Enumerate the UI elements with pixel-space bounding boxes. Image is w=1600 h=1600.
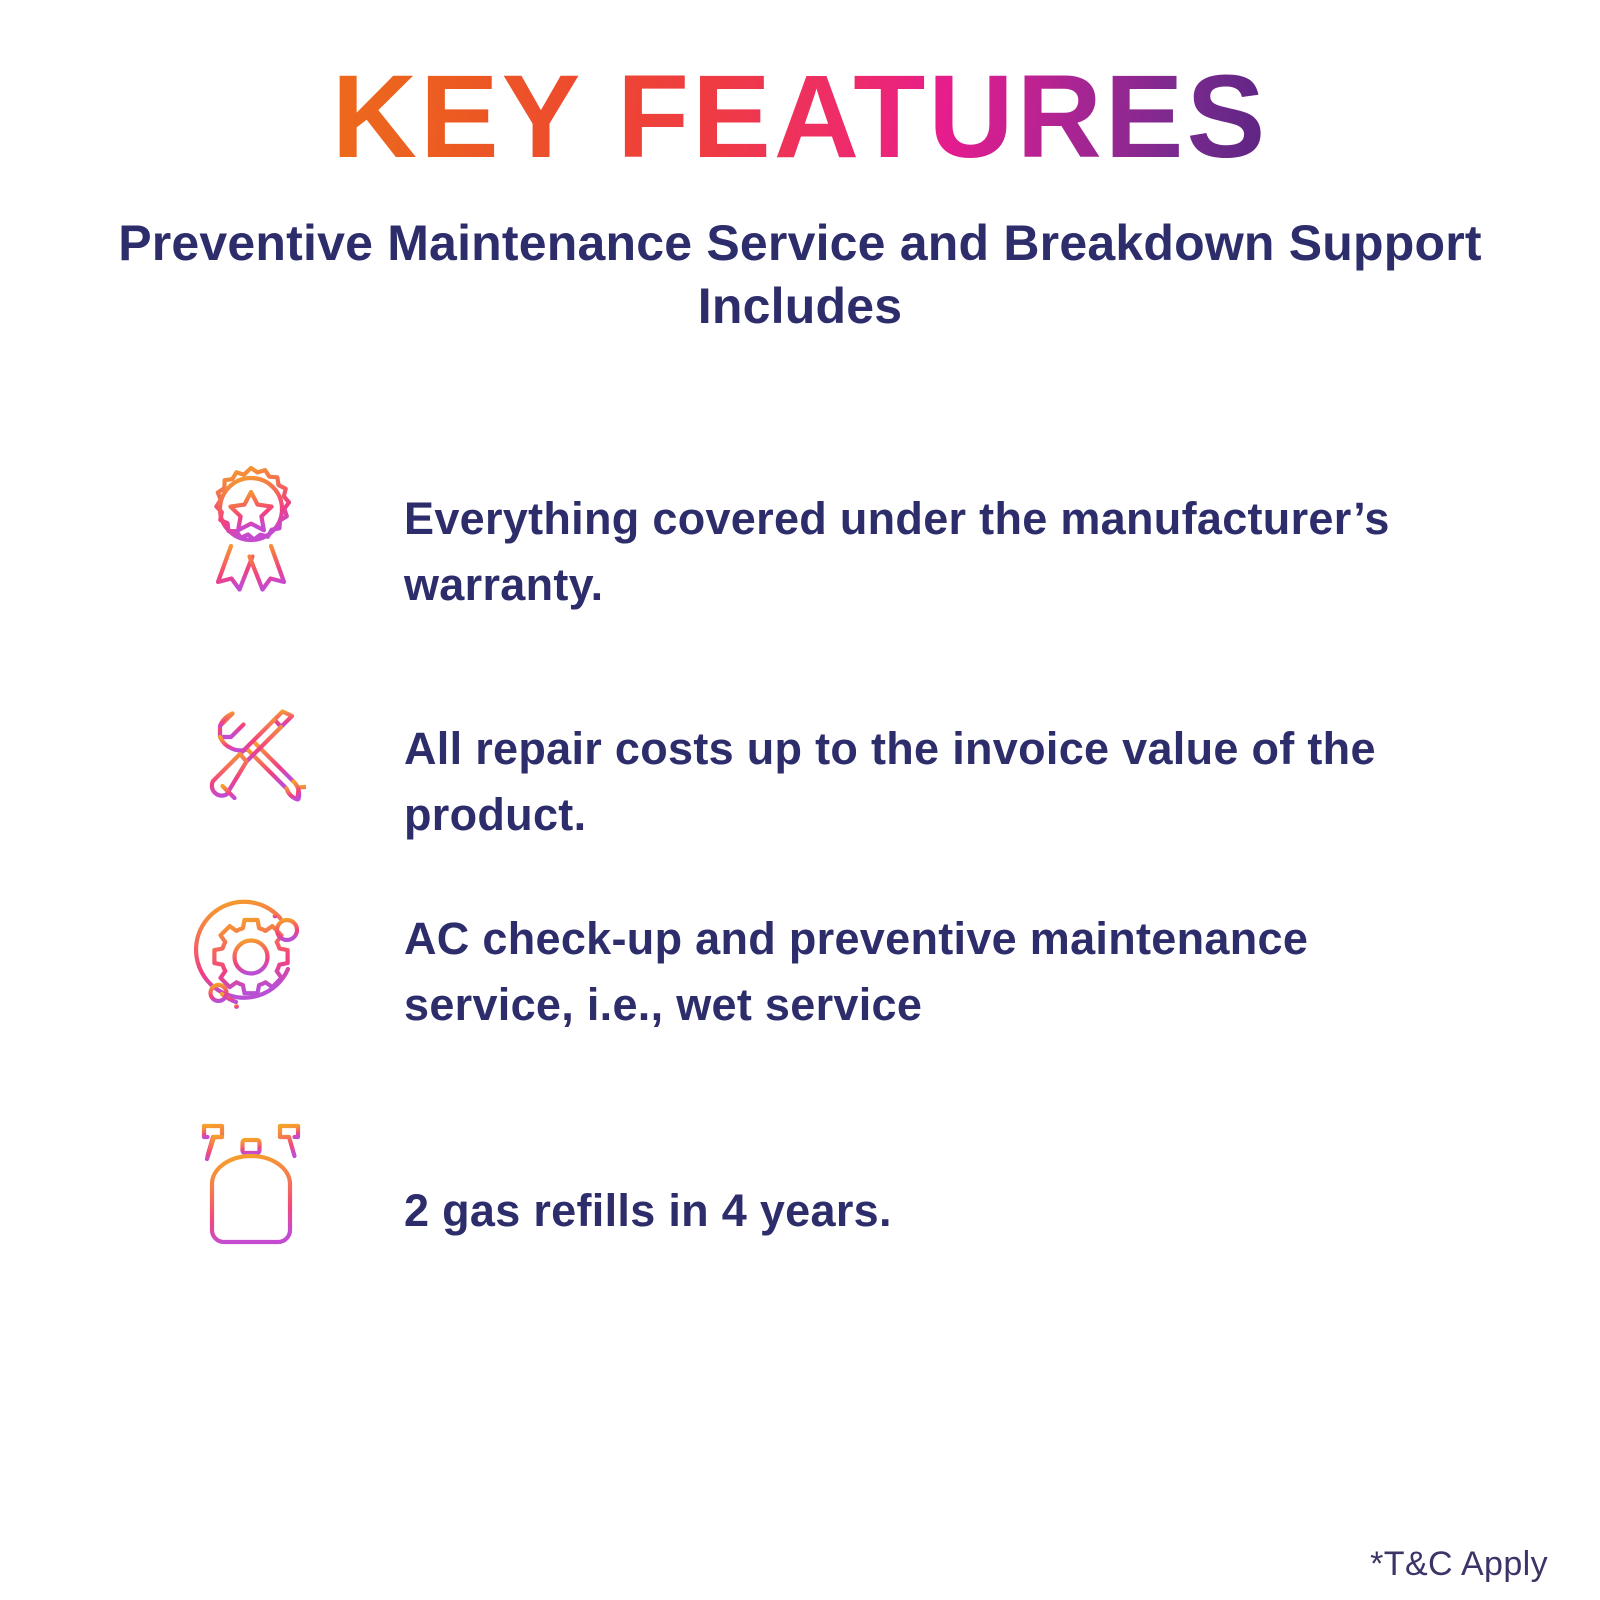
list-item-label: 2 gas refills in 4 years. (310, 1104, 1464, 1244)
key-features-page: KEY FEATURES Preventive Maintenance Serv… (0, 0, 1600, 1600)
list-item: AC check-up and preventive maintenance s… (0, 896, 1600, 1104)
award-ribbon-star-icon (192, 462, 310, 610)
list-item: 2 gas refills in 4 years. (0, 1104, 1600, 1294)
list-item-label: Everything covered under the manufacture… (310, 462, 1464, 617)
list-item-label: AC check-up and preventive maintenance s… (310, 896, 1464, 1037)
gas-cylinder-icon (192, 1104, 310, 1264)
page-subtitle: Preventive Maintenance Service and Break… (80, 212, 1520, 338)
wrench-screwdriver-icon (192, 694, 310, 848)
page-title: KEY FEATURES (332, 58, 1268, 176)
gear-orbit-icon (192, 896, 310, 1044)
feature-list: Everything covered under the manufacture… (0, 462, 1600, 1294)
terms-and-conditions-note: *T&C Apply (1370, 1545, 1548, 1584)
page-title-container: KEY FEATURES (0, 58, 1600, 176)
list-item-label: All repair costs up to the invoice value… (310, 694, 1464, 847)
list-item: Everything covered under the manufacture… (0, 462, 1600, 694)
list-item: All repair costs up to the invoice value… (0, 694, 1600, 896)
